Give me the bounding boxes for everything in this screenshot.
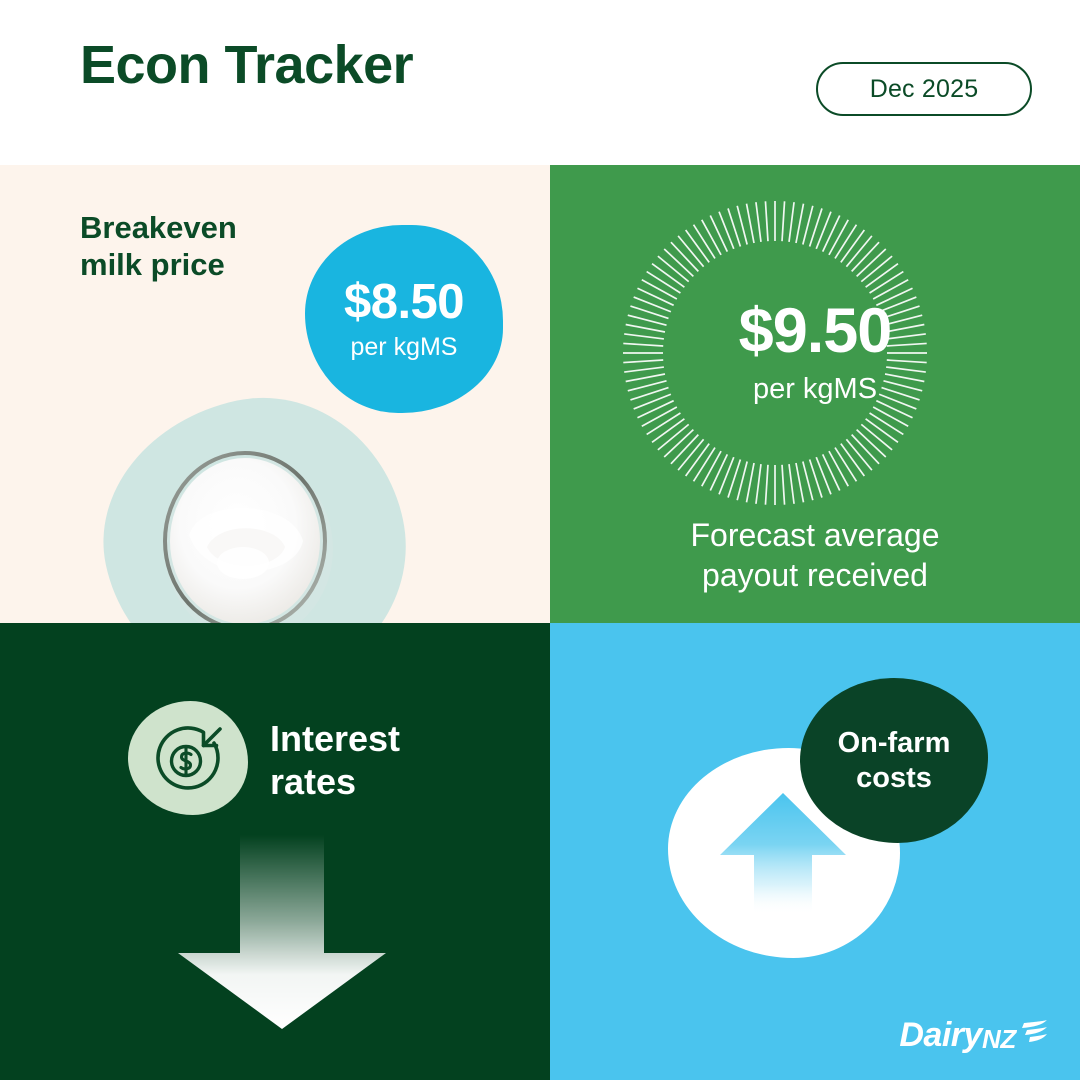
interest-label-line2: rates [270, 760, 400, 803]
swoosh-icon [1018, 1020, 1048, 1046]
breakeven-value: $8.50 [344, 278, 464, 327]
breakeven-label-line1: Breakeven [80, 210, 237, 247]
payout-caption-line1: Forecast average [550, 515, 1080, 555]
interest-label-line1: Interest [270, 717, 400, 760]
payout-caption: Forecast average payout received [550, 515, 1080, 595]
payout-caption-line2: payout received [550, 555, 1080, 595]
header-bar: Econ Tracker Dec 2025 [0, 0, 1080, 165]
panel-forecast-payout: $9.50 per kgMS Forecast average payout r… [550, 165, 1080, 623]
breakeven-unit: per kgMS [351, 335, 458, 360]
date-badge-label: Dec 2025 [870, 75, 979, 104]
payout-value: $9.50 [550, 300, 1080, 363]
on-farm-costs-blob: On-farm costs [800, 678, 988, 843]
logo-suffix: NZ [982, 1026, 1016, 1052]
costs-label-line2: costs [856, 761, 932, 796]
dairynz-logo[interactable]: Dairy NZ [899, 1018, 1048, 1052]
trend-down-arrow-icon [172, 835, 392, 1030]
panel-breakeven-milk-price: Breakeven milk price [0, 165, 550, 623]
breakeven-label: Breakeven milk price [80, 210, 237, 283]
logo-wordmark: Dairy [899, 1018, 982, 1052]
page-title: Econ Tracker [80, 38, 413, 92]
panel-interest-rates: Interest rates [0, 623, 550, 1080]
payout-unit: per kgMS [550, 375, 1080, 404]
econ-tracker-infographic: Econ Tracker Dec 2025 Breakeven milk pri… [0, 0, 1080, 1080]
interest-rates-label: Interest rates [270, 717, 400, 803]
dollar-circle-down-arrow-icon [148, 720, 228, 798]
milk-glass-image [157, 437, 337, 623]
costs-label-line1: On-farm [838, 726, 951, 761]
breakeven-label-line2: milk price [80, 247, 237, 284]
breakeven-price-blob: $8.50 per kgMS [305, 225, 503, 413]
panel-on-farm-costs: On-farm costs Dairy NZ [550, 623, 1080, 1080]
date-badge[interactable]: Dec 2025 [816, 62, 1032, 116]
